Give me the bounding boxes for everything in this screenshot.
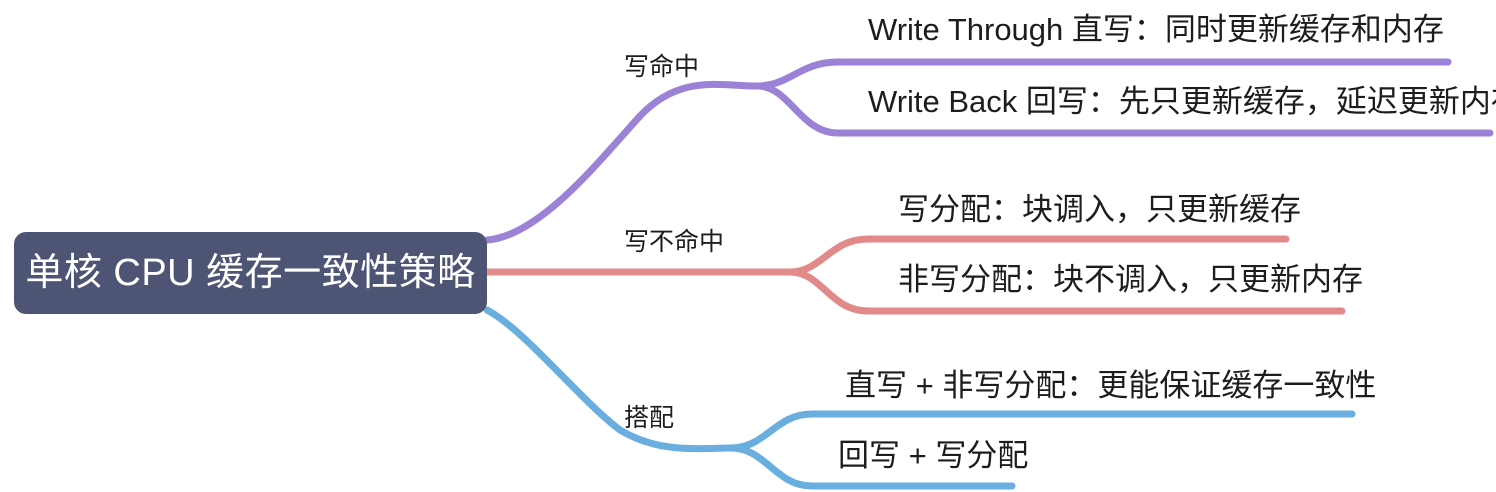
branch-label-write-miss[interactable]: 写不命中 xyxy=(624,230,724,255)
root-node-label: 单核 CPU 缓存一致性策略 xyxy=(25,254,475,292)
leaf-label-write-through-no-write-allocate[interactable]: 直写 + 非写分配：更能保证缓存一致性 xyxy=(845,370,1376,401)
leaf-label-no-write-allocate[interactable]: 非写分配：块不调入，只更新内存 xyxy=(898,264,1363,295)
leaf-label-write-back[interactable]: Write Back 回写：先只更新缓存，延迟更新内存 xyxy=(868,86,1496,117)
leaf-label-write-allocate[interactable]: 写分配：块调入，只更新缓存 xyxy=(898,194,1301,225)
branch-label-write-hit[interactable]: 写命中 xyxy=(624,55,699,80)
root-node[interactable]: 单核 CPU 缓存一致性策略 xyxy=(14,232,487,314)
mind-map-canvas: 单核 CPU 缓存一致性策略 写命中 写不命中 搭配 Write Through… xyxy=(0,0,1496,492)
leaf-label-write-back-write-allocate[interactable]: 回写 + 写分配 xyxy=(838,440,1028,471)
leaf-label-write-through[interactable]: Write Through 直写：同时更新缓存和内存 xyxy=(868,14,1444,45)
branch-label-pairing[interactable]: 搭配 xyxy=(624,406,674,431)
